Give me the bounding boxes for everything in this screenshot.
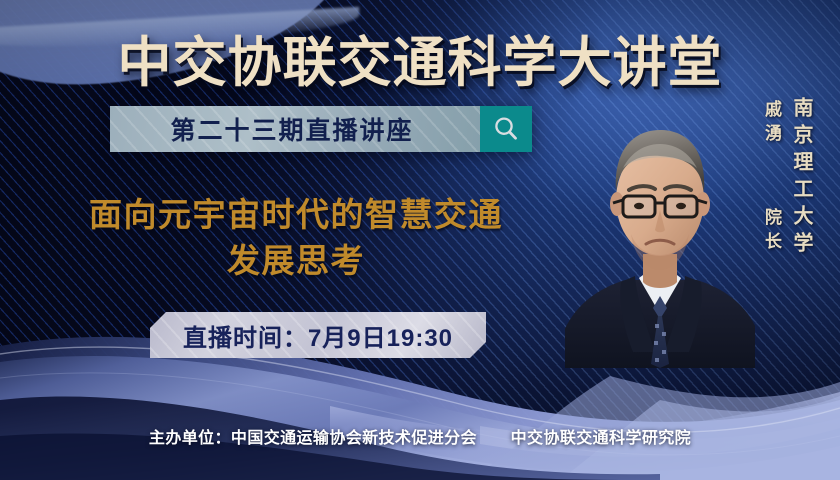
poster-headline: 中交协联交通科学大讲堂 — [0, 18, 840, 97]
livestream-poster: 中交协联交通科学大讲堂 第二十三期直播讲座 面向元宇宙时代的智慧交通 发展思考 … — [0, 0, 840, 480]
speaker-title: 院长 — [759, 208, 784, 256]
session-bar: 第二十三期直播讲座 — [110, 106, 532, 152]
lecture-title: 面向元宇宙时代的智慧交通 发展思考 — [36, 192, 556, 283]
search-icon[interactable] — [480, 106, 532, 152]
schedule-badge: 直播时间：7月9日19:30 — [150, 312, 486, 358]
organizers-line: 主办单位：中国交通运输协会新技术促进分会 中交协联交通科学研究院 — [0, 424, 840, 448]
organizer-primary: 主办单位：中国交通运输协会新技术促进分会 — [149, 430, 477, 447]
session-label: 第二十三期直播讲座 — [110, 106, 480, 152]
speaker-photo — [565, 96, 755, 368]
lecture-title-line-2: 发展思考 — [36, 238, 556, 284]
speaker-affiliation: 南京理工大学 — [787, 97, 816, 259]
speaker-name: 戚湧 — [759, 100, 784, 148]
lecture-title-line-1: 面向元宇宙时代的智慧交通 — [36, 192, 556, 238]
organizer-secondary: 中交协联交通科学研究院 — [511, 430, 691, 447]
